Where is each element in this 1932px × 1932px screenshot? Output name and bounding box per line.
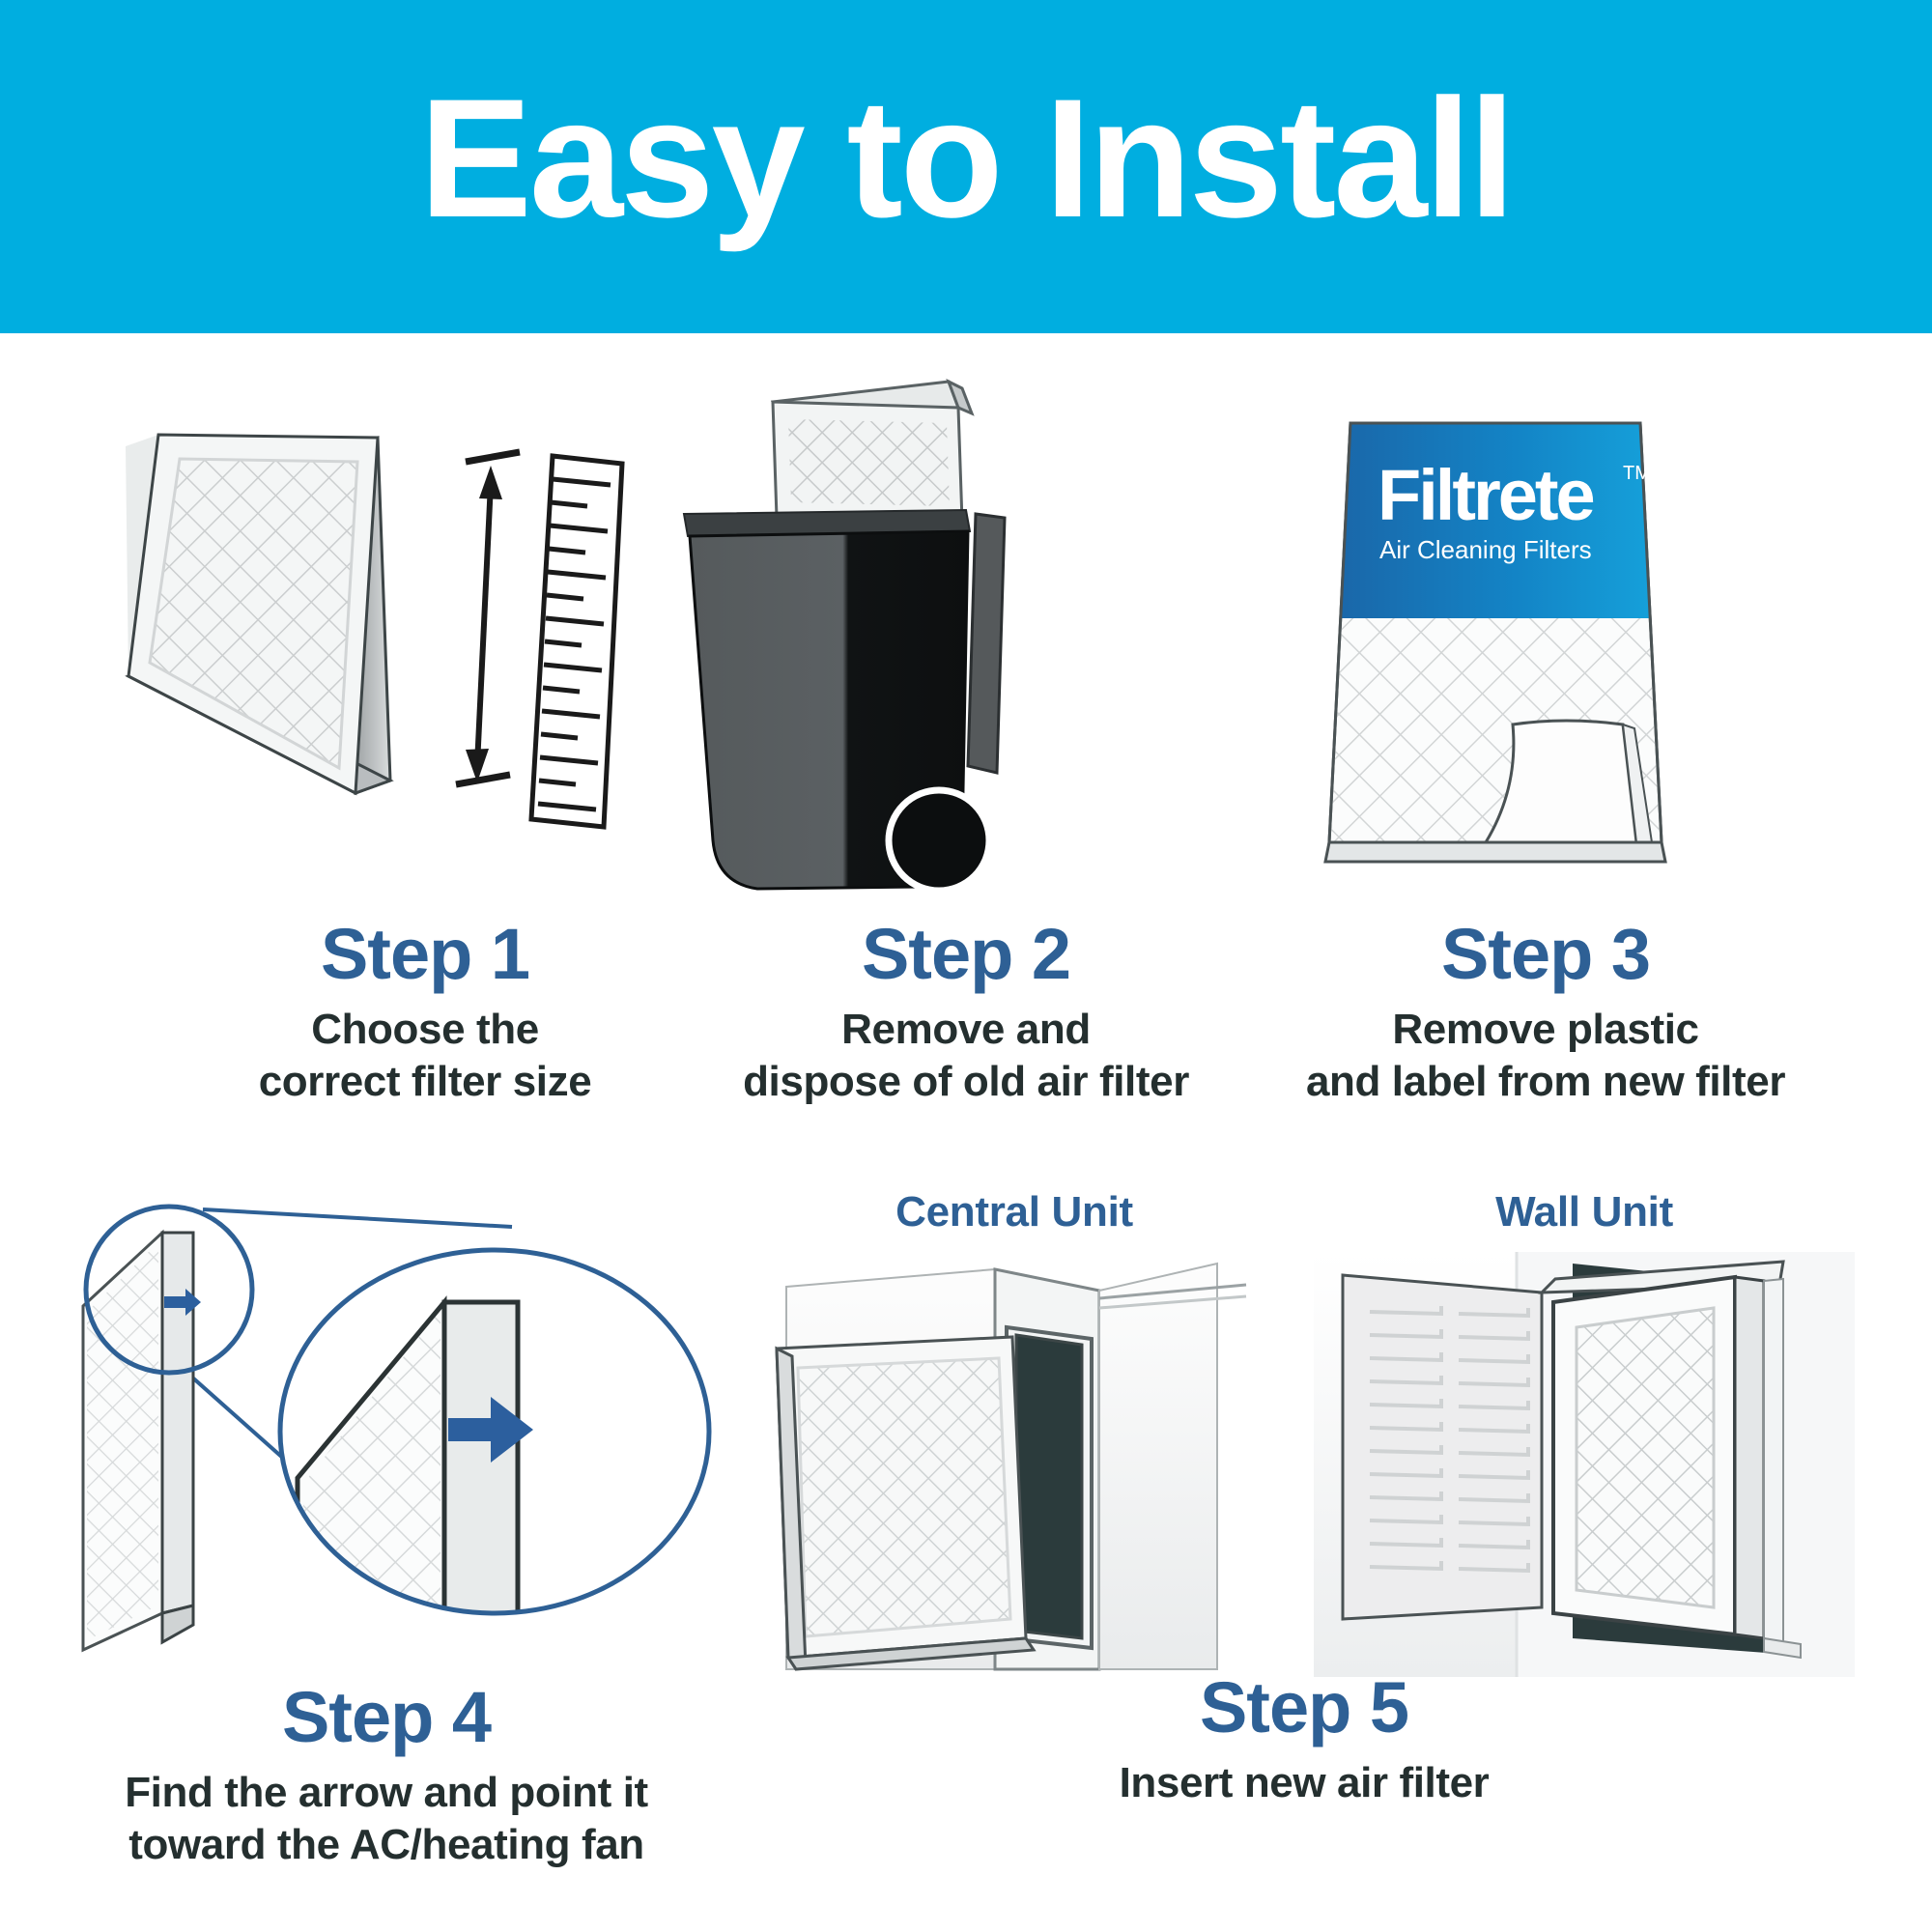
package-tagline: Air Cleaning Filters — [1379, 535, 1592, 564]
step-5-description: Insert new air filter — [734, 1757, 1874, 1809]
step-2-heading: Step 2 — [657, 918, 1275, 990]
step-1: Step 1 Choose the correct filter size — [116, 406, 734, 1121]
package-trademark: TM — [1623, 463, 1651, 484]
central-unit-label: Central Unit — [763, 1188, 1265, 1236]
step-3-illustration: Filtrete TM Air Cleaning Filters — [1236, 406, 1855, 918]
wall-unit-group: Wall Unit — [1314, 1188, 1855, 1677]
step-3-description: Remove plastic and label from new filter — [1236, 1004, 1855, 1107]
step-2-captions: Step 2 Remove and dispose of old air fil… — [657, 918, 1275, 1108]
step-2-description-line2: dispose of old air filter — [657, 1056, 1275, 1108]
step-2-illustration — [657, 386, 1275, 918]
step-5-description-line1: Insert new air filter — [734, 1757, 1874, 1809]
step-4-description-line2: toward the AC/heating fan — [58, 1819, 715, 1871]
step-3-captions: Step 3 Remove plastic and label from new… — [1236, 918, 1855, 1108]
step-4-description-line1: Find the arrow and point it — [58, 1767, 715, 1819]
step-1-heading: Step 1 — [116, 918, 734, 990]
step-4-heading: Step 4 — [58, 1681, 715, 1753]
step-4: Step 4 Find the arrow and point it towar… — [58, 1188, 715, 1922]
step-1-description-line1: Choose the — [116, 1004, 734, 1056]
step-5: Central Unit — [734, 1188, 1874, 1922]
step-1-illustration — [116, 406, 734, 908]
step-3-description-line2: and label from new filter — [1236, 1056, 1855, 1108]
step-5-captions: Step 5 Insert new air filter — [734, 1671, 1874, 1809]
wall-unit-illustration — [1314, 1252, 1855, 1677]
step-5-heading: Step 5 — [734, 1671, 1874, 1744]
central-unit-group: Central Unit — [763, 1188, 1265, 1677]
step-2-description-line1: Remove and — [657, 1004, 1275, 1056]
step-2: Step 2 Remove and dispose of old air fil… — [657, 386, 1275, 1121]
page-title: Easy to Install — [0, 0, 1932, 333]
step-1-description: Choose the correct filter size — [116, 1004, 734, 1107]
step-4-illustration — [58, 1188, 715, 1671]
step-3-description-line1: Remove plastic — [1236, 1004, 1855, 1056]
step-1-description-line2: correct filter size — [116, 1056, 734, 1108]
wall-unit-label: Wall Unit — [1314, 1188, 1855, 1236]
step-2-description: Remove and dispose of old air filter — [657, 1004, 1275, 1107]
step-3-heading: Step 3 — [1236, 918, 1855, 990]
step-4-description: Find the arrow and point it toward the A… — [58, 1767, 715, 1870]
step-3: Filtrete TM Air Cleaning Filters Step 3 … — [1236, 406, 1855, 1121]
step-4-captions: Step 4 Find the arrow and point it towar… — [58, 1681, 715, 1871]
header-banner: Easy to Install — [0, 0, 1932, 333]
package-brand-text: Filtrete — [1378, 455, 1594, 535]
central-unit-illustration — [763, 1252, 1265, 1677]
step-1-captions: Step 1 Choose the correct filter size — [116, 918, 734, 1108]
